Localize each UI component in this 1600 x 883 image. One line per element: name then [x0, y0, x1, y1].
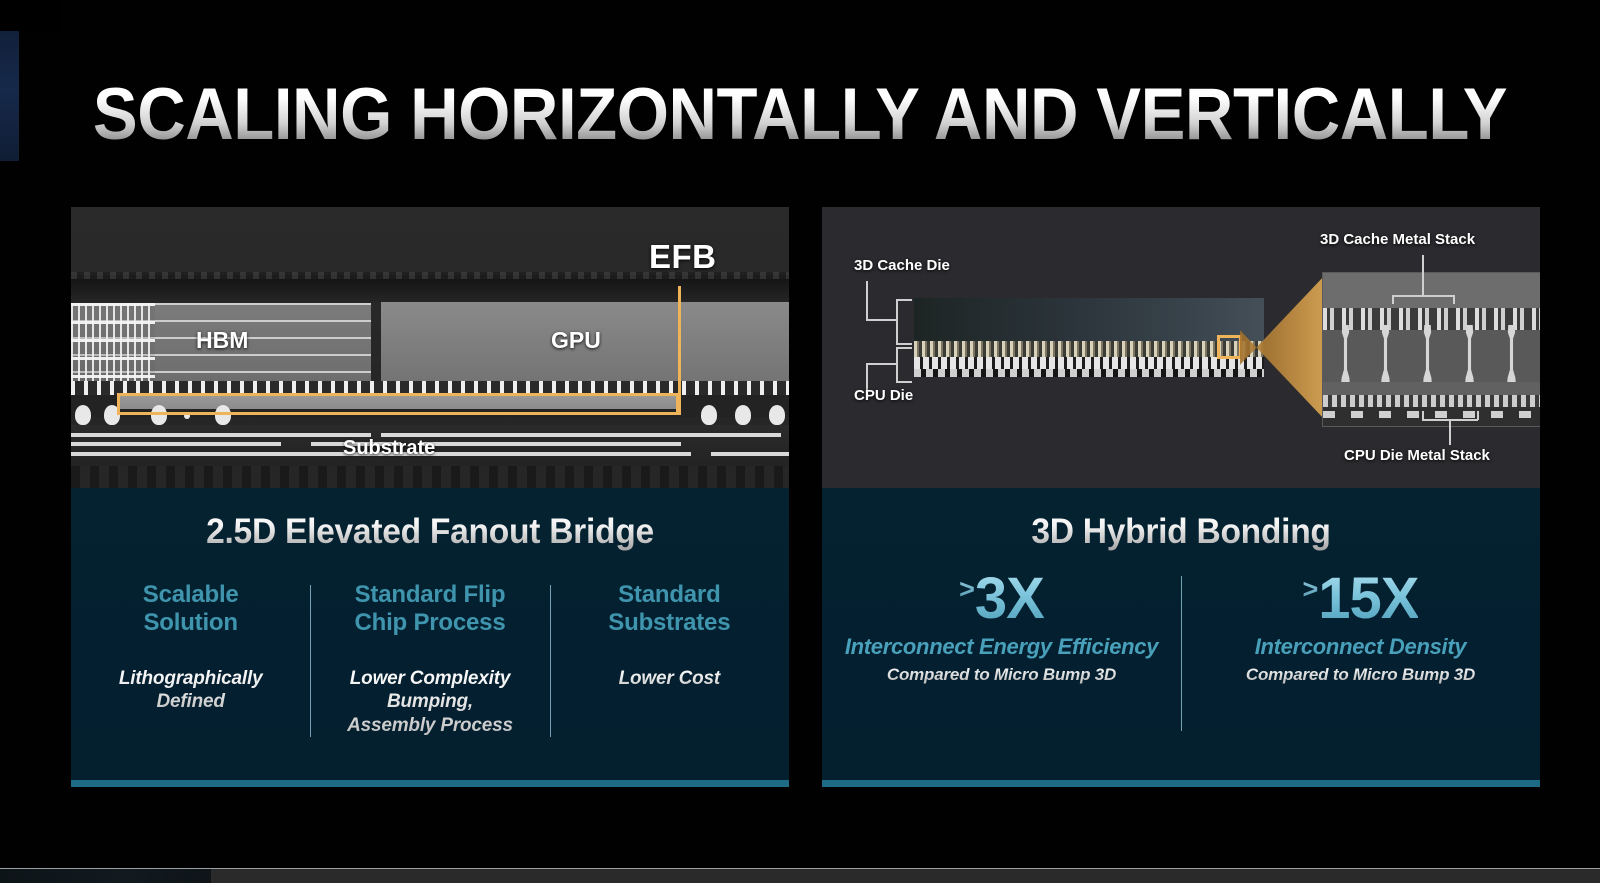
tsv-dot-array [71, 303, 155, 381]
stat-number-row: >3X [832, 570, 1171, 628]
solder-ball [735, 405, 751, 425]
substrate-trace [71, 442, 281, 446]
cache-die-leader-h [866, 319, 898, 321]
label-3d-cache-metal-stack: 3D Cache Metal Stack [1320, 231, 1475, 248]
substrate-core [71, 466, 789, 488]
feature-column: ScalableSolution LithographicallyDefined [71, 581, 310, 738]
stat-note: Compared to Micro Bump 3D [1191, 665, 1530, 685]
cpu-die-bracket [896, 347, 912, 383]
right-card-body: 3D Hybrid Bonding >3X Interconnect Energ… [822, 488, 1540, 780]
stat-caption: Interconnect Energy Efficiency [832, 634, 1171, 660]
card-2-5d-elevated-fanout-bridge: HBM GPU Substrate EFB 2.5D Elevated Fano… [71, 207, 789, 787]
zoom-cone [1240, 275, 1325, 420]
stat-number-row: >15X [1191, 570, 1530, 628]
stat-caption: Interconnect Density [1191, 634, 1530, 660]
zoom-region-box [1217, 335, 1242, 359]
cpu-metal-leader-v [1449, 419, 1451, 445]
card-3d-hybrid-bonding: 3D Cache Die CPU Die 3D Cache Metal Stac… [822, 207, 1540, 787]
inset-cache-silicon [1323, 273, 1540, 308]
cpu-die-bottom-metal [914, 369, 1264, 377]
solder-ball [701, 405, 717, 425]
sem-cross-section-hybrid-bonding: 3D Cache Die CPU Die 3D Cache Metal Stac… [822, 207, 1540, 488]
cpu-metal-bracket-l [1422, 411, 1424, 420]
feature-detail: Lower Complexity Bumping,Assembly Proces… [316, 667, 543, 738]
efb-leader-vertical [678, 286, 681, 415]
feature-column: Standard FlipChip Process Lower Complexi… [310, 581, 549, 738]
right-card-stats: >3X Interconnect Energy Efficiency Compa… [822, 570, 1540, 685]
inset-cache-metal-pads [1323, 308, 1540, 330]
hybrid-bond-interface [914, 341, 1264, 357]
feature-title: ScalableSolution [77, 581, 304, 637]
stat-value: 3X [975, 570, 1044, 628]
label-cpu-die: CPU Die [854, 387, 913, 404]
cpu-metal-bracket-r [1477, 411, 1479, 420]
cache-die-bracket [896, 299, 912, 345]
feature-detail: Lower Cost [556, 667, 783, 691]
substrate-trace [421, 442, 681, 446]
substrate-trace [711, 452, 789, 456]
label-efb: EFB [649, 238, 717, 276]
substrate-trace [71, 433, 371, 437]
label-gpu: GPU [551, 327, 601, 354]
substrate-trace [381, 433, 781, 437]
feature-title: StandardSubstrates [556, 581, 783, 637]
label-3d-cache-die: 3D Cache Die [854, 257, 950, 274]
stat-block: >3X Interconnect Energy Efficiency Compa… [822, 570, 1181, 685]
bottom-bar-active-segment [0, 869, 211, 883]
left-card-title: 2.5D Elevated Fanout Bridge [85, 512, 774, 552]
feature-detail: LithographicallyDefined [77, 667, 304, 715]
inset-cpu-base [1323, 407, 1540, 426]
greater-than-symbol: > [959, 574, 975, 604]
left-card-columns: ScalableSolution LithographicallyDefined… [71, 581, 789, 738]
edge-strip-top-mask [0, 0, 60, 31]
page-title: SCALING HORIZONTALLY AND VERTICALLY [64, 78, 1536, 151]
label-hbm: HBM [196, 327, 248, 354]
greater-than-symbol: > [1303, 574, 1319, 604]
left-edge-accent-strip [0, 31, 19, 161]
feature-title: Standard FlipChip Process [316, 581, 543, 637]
stat-block: >15X Interconnect Density Compared to Mi… [1181, 570, 1540, 685]
label-substrate: Substrate [343, 437, 435, 460]
cache-die [914, 298, 1264, 344]
slide-stage: SCALING HORIZONTALLY AND VERTICALLY [0, 0, 1600, 883]
cache-metal-bracket-r [1453, 295, 1455, 304]
cache-metal-leader-v [1422, 255, 1424, 296]
mold-layer [71, 275, 789, 303]
left-card-body: 2.5D Elevated Fanout Bridge ScalableSolu… [71, 488, 789, 780]
cache-metal-bracket-l [1392, 295, 1394, 304]
solder-ball [75, 405, 91, 425]
efb-leader-horizontal [641, 412, 681, 415]
bottom-bar [0, 869, 1600, 883]
efb-highlight-box [117, 393, 679, 415]
sem-cross-section-efb: HBM GPU Substrate EFB [71, 207, 789, 488]
stat-note: Compared to Micro Bump 3D [832, 665, 1171, 685]
inset-dielectric [1323, 330, 1540, 382]
stat-value: 15X [1318, 570, 1418, 628]
solder-ball [769, 405, 785, 425]
cache-die-leader-v [866, 281, 868, 321]
cpu-die-leader-h [866, 363, 898, 365]
label-cpu-die-metal-stack: CPU Die Metal Stack [1344, 447, 1490, 464]
right-card-title: 3D Hybrid Bonding [836, 512, 1525, 552]
feature-column: StandardSubstrates Lower Cost [550, 581, 789, 738]
